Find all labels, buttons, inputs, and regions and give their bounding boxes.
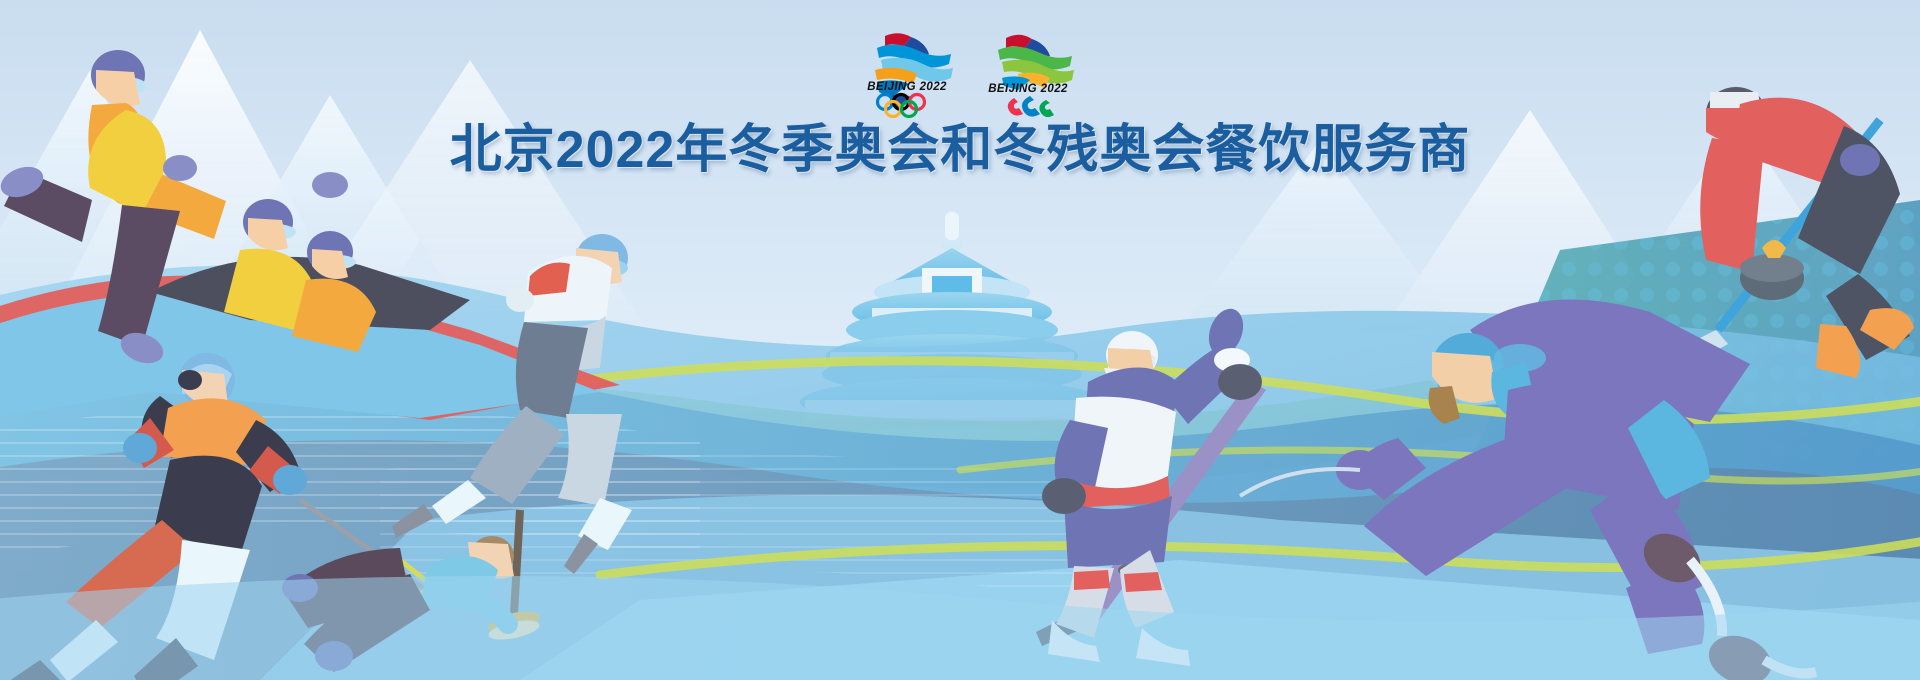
emblem-group: BEIJING 2022 xyxy=(855,28,1090,118)
olympic-wordmark: BEIJING 2022 xyxy=(867,81,947,93)
glove xyxy=(1042,478,1086,514)
paralympic-emblem-ribbon xyxy=(998,35,1074,90)
glove xyxy=(1218,364,1262,400)
olympic-emblem-ribbon xyxy=(875,33,953,110)
glove xyxy=(506,288,534,312)
glove xyxy=(273,465,307,495)
olympic-banner: BEIJING 2022 xyxy=(0,0,1920,680)
page-title: 北京2022年冬季奥会和冬残奥会餐饮服务商 xyxy=(0,122,1920,179)
paralympic-emblem: BEIJING 2022 xyxy=(978,28,1083,118)
glove xyxy=(123,433,157,463)
agitos-symbol xyxy=(1008,96,1054,117)
paralympic-wordmark: BEIJING 2022 xyxy=(988,83,1068,95)
olympic-emblem: BEIJING 2022 xyxy=(855,28,960,118)
